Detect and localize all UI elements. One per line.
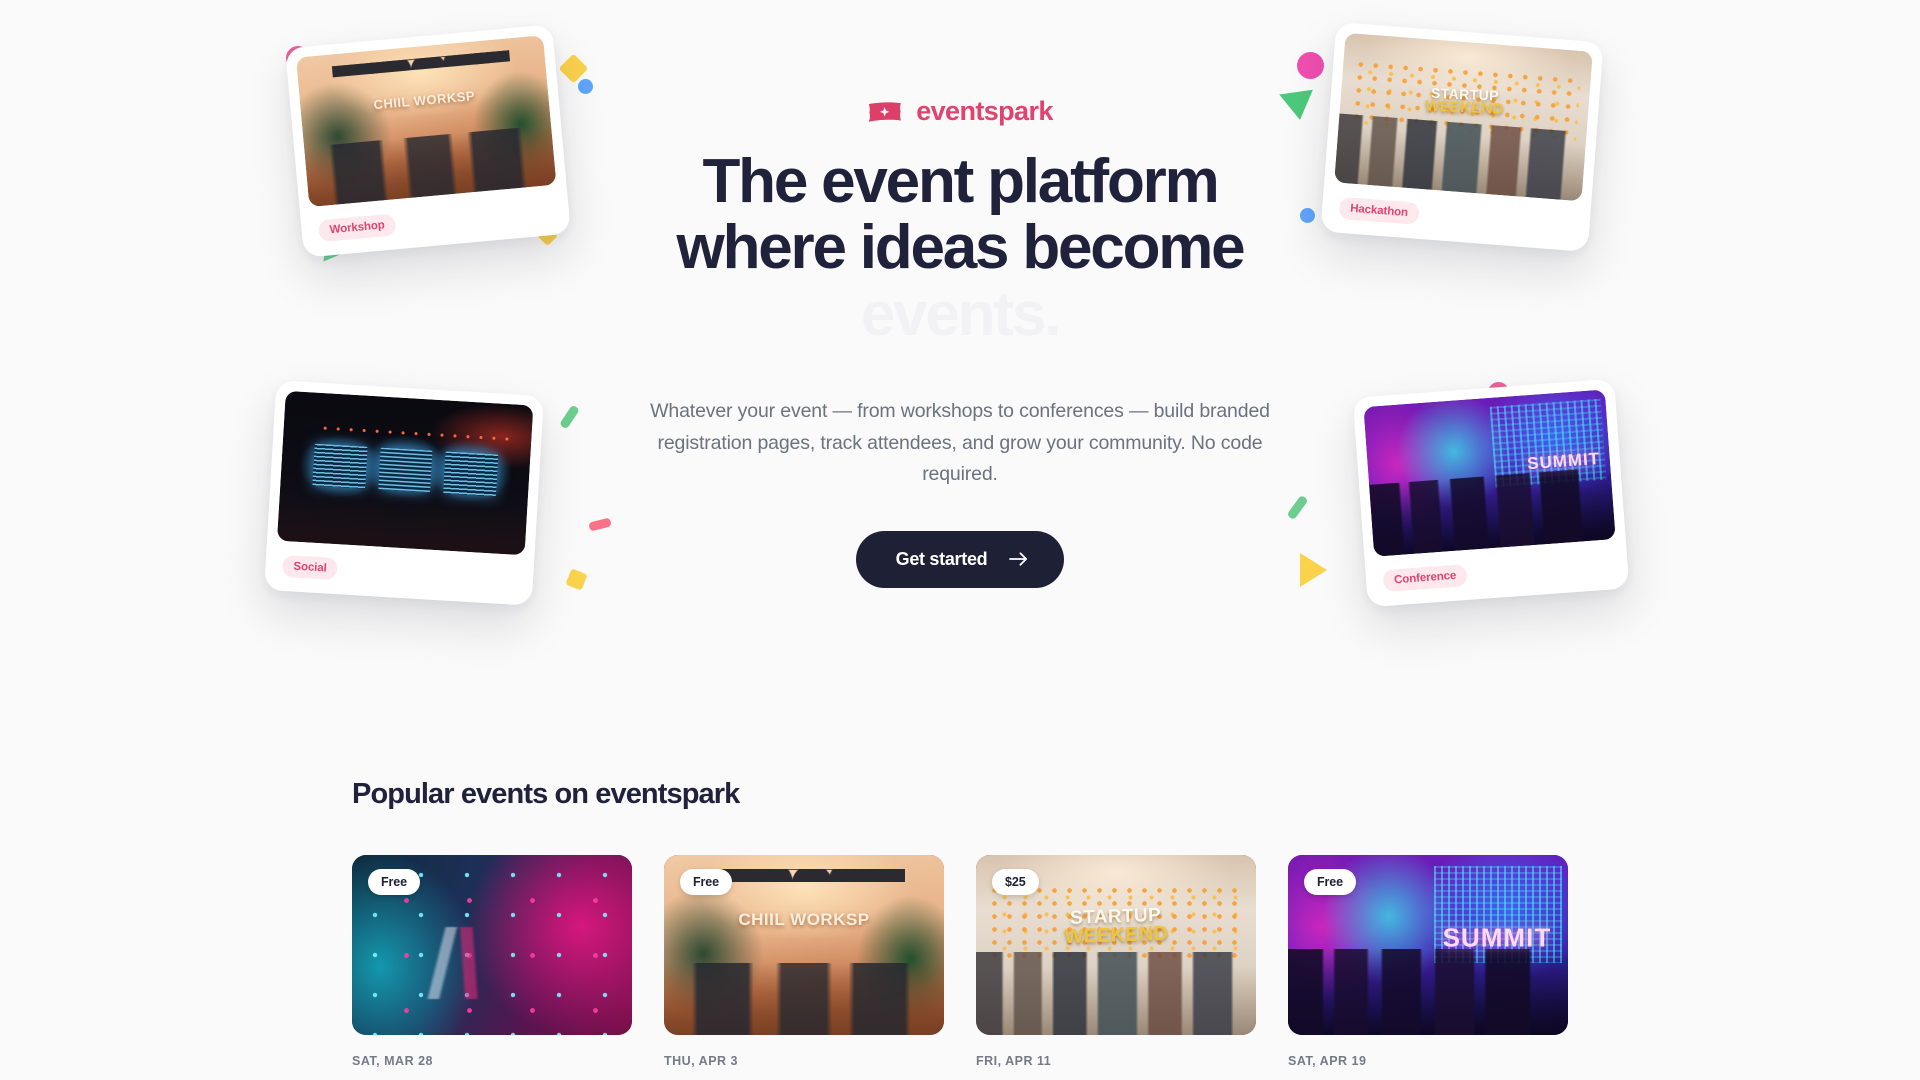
event-date: THU, APR 3 xyxy=(664,1054,944,1068)
event-card[interactable]: STARTUP WEEKEND $25 FRI, APR 11 Startup … xyxy=(976,855,1256,1080)
price-badge: Free xyxy=(1304,869,1356,895)
section-title-popular-events: Popular events on eventspark xyxy=(352,778,1568,811)
popular-events-section: Popular events on eventspark Free SAT, M… xyxy=(352,690,1568,1080)
category-badge-workshop: Workshop xyxy=(318,213,397,242)
hackathon-photo-caption: STARTUP WEEKEND xyxy=(1425,87,1504,118)
category-badge-social: Social xyxy=(282,555,338,580)
hero-cta-wrap: Get started xyxy=(610,531,1310,588)
hero-section: CHIIL WORKSP Workshop STARTUP WEEKEND Ha… xyxy=(0,0,1920,690)
hero-subheadline: Whatever your event — from workshops to … xyxy=(610,396,1310,491)
price-badge: $25 xyxy=(992,869,1039,895)
hackathon-photo: STARTUP WEEKEND xyxy=(1334,33,1593,202)
event-photo-caption: CHIIL WORKSP xyxy=(738,910,869,930)
headline-line-3: events. xyxy=(610,282,1310,348)
price-badge: Free xyxy=(368,869,420,895)
category-badge-hackathon: Hackathon xyxy=(1338,197,1419,225)
ticket-sparkle-icon xyxy=(867,99,903,125)
price-badge: Free xyxy=(680,869,732,895)
event-photo: SUMMIT Free xyxy=(1288,855,1568,1035)
headline-line-2: where ideas become xyxy=(610,215,1310,281)
event-card[interactable]: CHIIL WORKSP Free THU, APR 3 Chill works… xyxy=(664,855,944,1080)
hero-content: eventspark The event platform where idea… xyxy=(610,96,1310,588)
hackathon-caption-line2: WEEKEND xyxy=(1425,100,1504,118)
category-badge-conference: Conference xyxy=(1382,564,1468,592)
floating-card-hackathon[interactable]: STARTUP WEEKEND Hackathon xyxy=(1320,22,1603,252)
headline-line-1: The event platform xyxy=(610,149,1310,215)
event-photo-caption: STARTUP WEEKEND xyxy=(1064,906,1169,947)
social-photo xyxy=(277,391,533,555)
event-photo: STARTUP WEEKEND $25 xyxy=(976,855,1256,1035)
brand-lockup[interactable]: eventspark xyxy=(610,96,1310,127)
event-date: SAT, APR 19 xyxy=(1288,1054,1568,1068)
brand-name: eventspark xyxy=(916,96,1053,127)
arrow-right-icon xyxy=(1009,552,1028,566)
get-started-label: Get started xyxy=(896,549,988,570)
get-started-button[interactable]: Get started xyxy=(856,531,1065,588)
event-photo-caption: SUMMIT xyxy=(1443,922,1552,953)
decor-circle-blue-left xyxy=(578,79,593,94)
event-card[interactable]: Free SAT, MAR 28 AI hackathon xyxy=(352,855,632,1080)
event-photo: CHIIL WORKSP Free xyxy=(664,855,944,1035)
conference-photo: SUMMIT xyxy=(1363,389,1615,556)
floating-card-social[interactable]: Social xyxy=(264,380,544,606)
event-photo: Free xyxy=(352,855,632,1035)
decor-bar-coral-mid xyxy=(588,517,612,531)
decor-bar-green-mid xyxy=(559,405,580,430)
workshop-photo: CHIIL WORKSP xyxy=(296,35,557,207)
event-date: SAT, MAR 28 xyxy=(352,1054,632,1068)
page-title: The event platform where ideas become ev… xyxy=(610,149,1310,348)
popular-events-grid: Free SAT, MAR 28 AI hackathon CHIIL WORK… xyxy=(352,855,1568,1080)
event-caption-line2: WEEKEND xyxy=(1064,925,1168,948)
event-card[interactable]: SUMMIT Free SAT, APR 19 Kilimanjaro summ… xyxy=(1288,855,1568,1080)
decor-diamond-yellow-mid xyxy=(565,568,587,590)
floating-card-conference[interactable]: SUMMIT Conference xyxy=(1353,379,1630,608)
floating-card-workshop[interactable]: CHIIL WORKSP Workshop xyxy=(285,24,571,257)
event-date: FRI, APR 11 xyxy=(976,1054,1256,1068)
decor-circle-magenta-right xyxy=(1297,52,1324,79)
